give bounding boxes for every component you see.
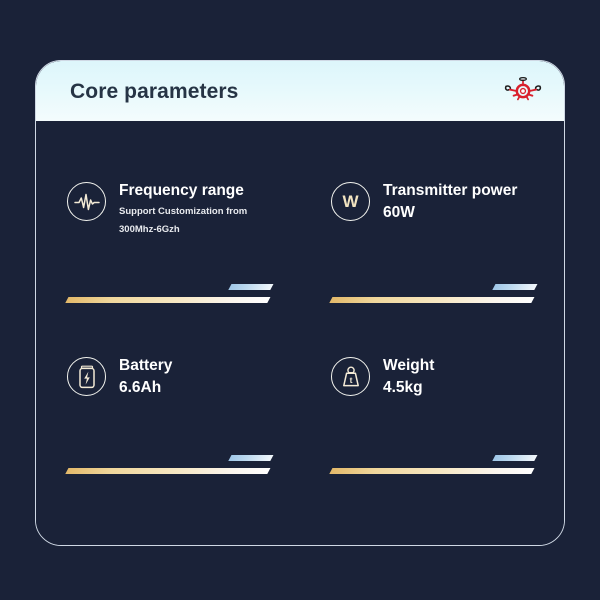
parameter-header: t Weight 4.5kg xyxy=(331,354,544,399)
card-body: Frequency range Support Customization fr… xyxy=(36,121,564,545)
decorative-bar-blue xyxy=(493,455,538,461)
parameter-header: Battery 6.6Ah xyxy=(67,354,280,399)
parameter-text: Battery 6.6Ah xyxy=(119,354,172,399)
decorative-bar-gold xyxy=(330,468,535,474)
weight-block-icon: t xyxy=(331,357,370,396)
parameter-value: 60W xyxy=(383,203,517,223)
parameter-grid: Frequency range Support Customization fr… xyxy=(36,121,564,529)
svg-text:t: t xyxy=(349,375,352,385)
parameter-subline-1: Support Customization from xyxy=(119,203,247,221)
parameter-value: 4.5kg xyxy=(383,378,434,398)
parameter-item-battery: Battery 6.6Ah xyxy=(36,354,300,529)
decorative-bar-blue xyxy=(229,455,274,461)
core-parameters-card: Core parameters xyxy=(35,60,565,546)
decorative-bar-blue xyxy=(229,284,274,290)
watt-letter-glyph: W xyxy=(342,193,358,210)
parameter-label: Weight xyxy=(383,356,434,375)
parameter-label: Frequency range xyxy=(119,181,247,200)
decorative-bars xyxy=(331,284,536,306)
battery-bolt-icon xyxy=(67,357,106,396)
pulse-waveform-icon xyxy=(67,182,106,221)
parameter-label: Transmitter power xyxy=(383,181,517,200)
decorative-bar-gold xyxy=(66,468,271,474)
parameter-label: Battery xyxy=(119,356,172,375)
parameter-item-transmitter-power: W Transmitter power 60W xyxy=(300,179,564,354)
decorative-bar-gold xyxy=(330,297,535,303)
decorative-bars xyxy=(67,284,272,306)
parameter-text: Frequency range Support Customization fr… xyxy=(119,179,247,239)
watt-letter-icon: W xyxy=(331,182,370,221)
parameter-text: Transmitter power 60W xyxy=(383,179,517,224)
parameter-value: 6.6Ah xyxy=(119,378,172,398)
decorative-bar-gold xyxy=(66,297,271,303)
drone-icon xyxy=(504,76,542,106)
parameter-header: Frequency range Support Customization fr… xyxy=(67,179,280,239)
decorative-bars xyxy=(67,455,272,477)
page-root: Core parameters xyxy=(0,0,600,600)
page-title: Core parameters xyxy=(70,81,238,102)
parameter-header: W Transmitter power 60W xyxy=(331,179,544,224)
parameter-item-frequency-range: Frequency range Support Customization fr… xyxy=(36,179,300,354)
decorative-bar-blue xyxy=(493,284,538,290)
decorative-bars xyxy=(331,455,536,477)
parameter-item-weight: t Weight 4.5kg xyxy=(300,354,564,529)
parameter-text: Weight 4.5kg xyxy=(383,354,434,399)
parameter-subline-2: 300Mhz-6Gzh xyxy=(119,221,247,239)
card-header: Core parameters xyxy=(36,61,564,121)
